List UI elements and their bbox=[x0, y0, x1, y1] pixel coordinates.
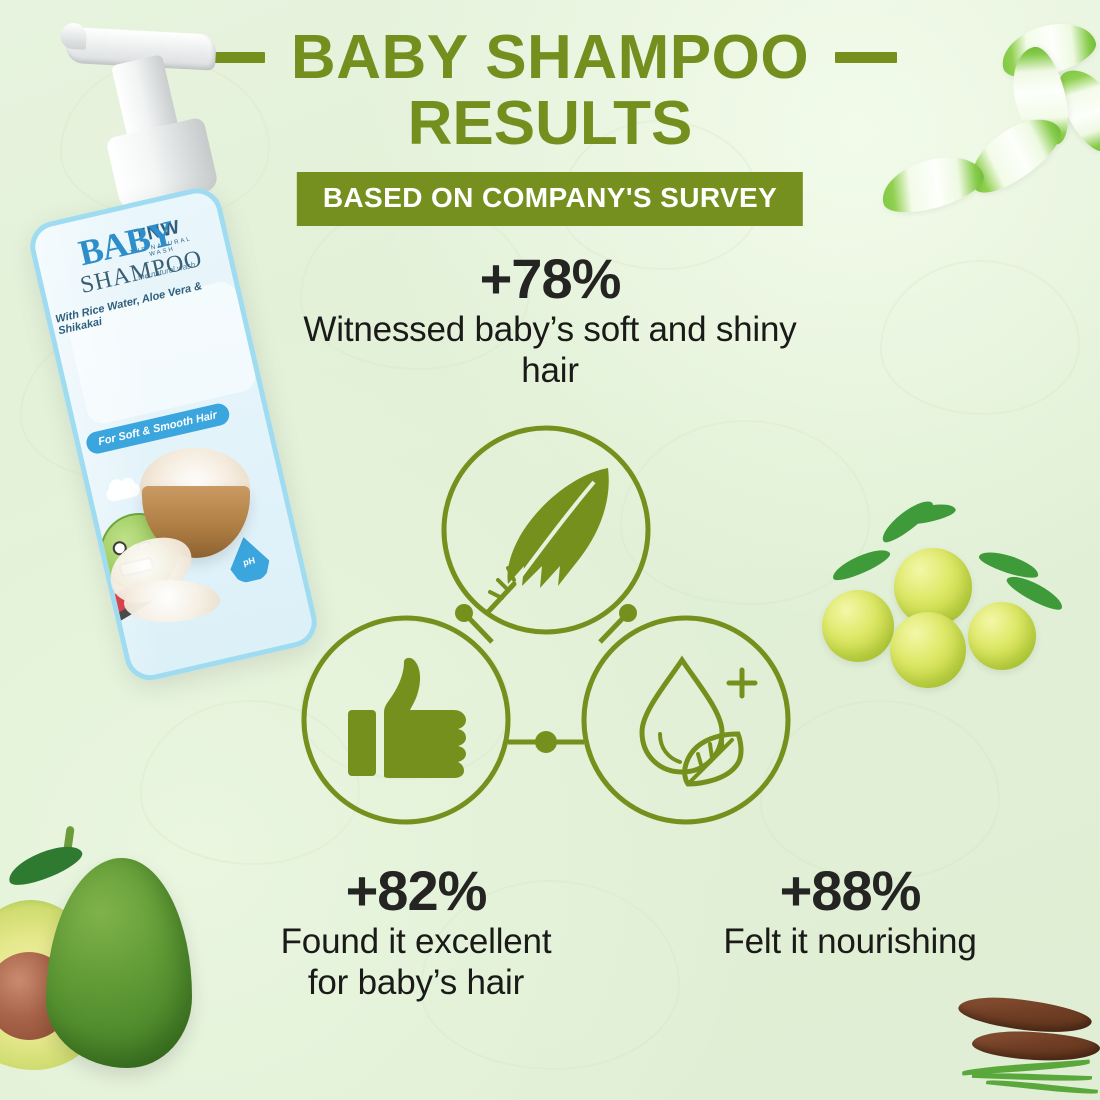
amla-fruit bbox=[822, 590, 894, 662]
stat-percent: +82% bbox=[256, 862, 576, 921]
stat-description: Witnessed baby’s soft and shiny hair bbox=[290, 309, 810, 392]
droplet-leaf-circle bbox=[584, 618, 788, 822]
stat-description: Felt it nourishing bbox=[700, 921, 1000, 962]
stat-percent: +88% bbox=[700, 862, 1000, 921]
stat-description: Found it excellent for baby’s hair bbox=[256, 921, 576, 1004]
stat-block-soft-shiny-hair: +78% Witnessed baby’s soft and shiny hai… bbox=[290, 250, 810, 391]
feather-icon bbox=[488, 468, 609, 612]
thumbs-up-icon bbox=[348, 658, 466, 778]
cloud-icon bbox=[105, 481, 141, 502]
dash-right-icon bbox=[835, 52, 897, 63]
droplet-leaf-icon bbox=[642, 660, 755, 784]
stat-block-excellent-for-hair: +82% Found it excellent for baby’s hair bbox=[256, 862, 576, 1003]
connector-dot bbox=[535, 731, 557, 753]
stat-percent: +78% bbox=[290, 250, 810, 309]
connector-dot bbox=[619, 604, 637, 622]
amla-fruit bbox=[890, 612, 966, 688]
connector-dot bbox=[455, 604, 473, 622]
amla-fruit bbox=[968, 602, 1036, 670]
page-title: BABY SHAMPOO bbox=[291, 26, 809, 89]
infographic-canvas: BABY SHAMPOO RESULTS BASED ON COMPANY'S … bbox=[0, 0, 1100, 1100]
plus-icon bbox=[729, 670, 755, 696]
survey-banner: BASED ON COMPANY'S SURVEY bbox=[297, 172, 803, 226]
stat-block-nourishing: +88% Felt it nourishing bbox=[700, 862, 1000, 962]
